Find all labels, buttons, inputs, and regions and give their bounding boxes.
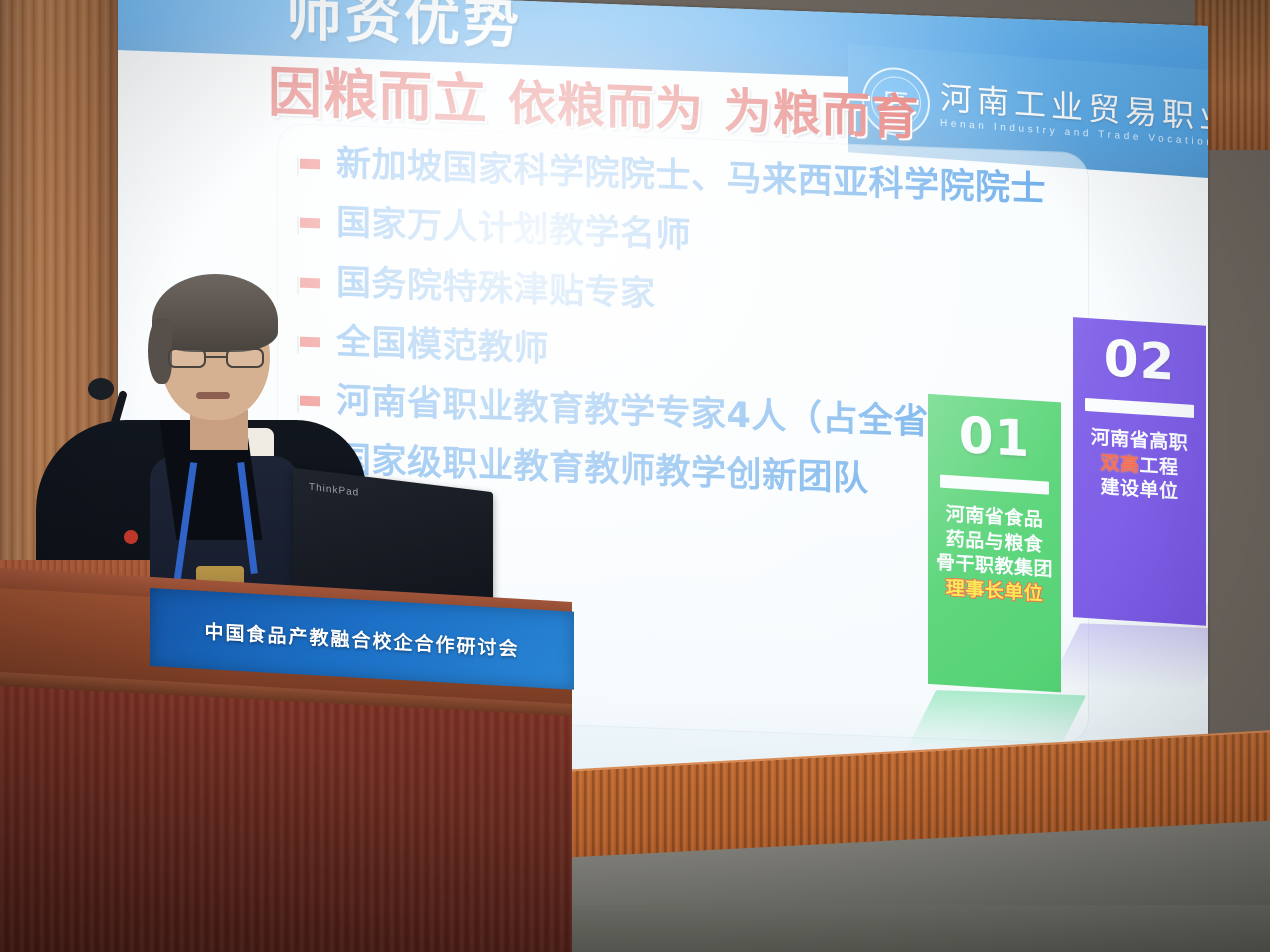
card-white-word: 工程 (1140, 454, 1179, 479)
glasses-bridge (206, 356, 226, 358)
glasses-icon (168, 348, 264, 368)
card-divider (1085, 398, 1194, 418)
microphone-windscreen (124, 530, 138, 544)
podium-body (0, 686, 572, 952)
slogan-part-2: 依粮而为 (508, 75, 704, 138)
card-red-word: 双高 (1100, 452, 1139, 477)
achievement-card-02: 02 河南省高职 双高工程 建设单位 (1073, 317, 1206, 626)
card-divider (940, 475, 1049, 495)
red-flag-icon (296, 216, 322, 242)
red-flag-icon (296, 157, 322, 183)
stage-floor-front (560, 905, 1270, 952)
glasses-lens-right (226, 348, 264, 368)
card-number: 02 (1081, 332, 1198, 390)
laptop-brand-label: ThinkPad (309, 482, 359, 499)
card-reflection (1050, 623, 1208, 689)
microphone-icon (88, 378, 114, 400)
school-name-block: 河南工业贸易职业学院 Henan Industry and Trade Voca… (940, 81, 1208, 147)
slogan-part-3: 为粮而育 (724, 83, 920, 146)
bullet-text: 国家万人计划教学名师 (336, 203, 691, 257)
slogan-part-1: 因粮而立 (268, 60, 488, 132)
conference-photo-scene: 师资优势 匠 河南工业贸易职业学院 Henan Industry and Tra… (0, 0, 1270, 952)
glasses-lens-left (168, 348, 206, 368)
speaker-mouth (196, 392, 230, 399)
card-number: 01 (936, 408, 1053, 466)
achievement-cards: 01 河南省食品 药品与粮食 骨干职教集团 理事长单位 02 河南省高职 双高工… (763, 240, 1193, 686)
achievement-card-01: 01 河南省食品 药品与粮食 骨干职教集团 理事长单位 (928, 394, 1061, 693)
podium-banner-text: 中国食品产教融合校企合作研讨会 (204, 617, 519, 662)
